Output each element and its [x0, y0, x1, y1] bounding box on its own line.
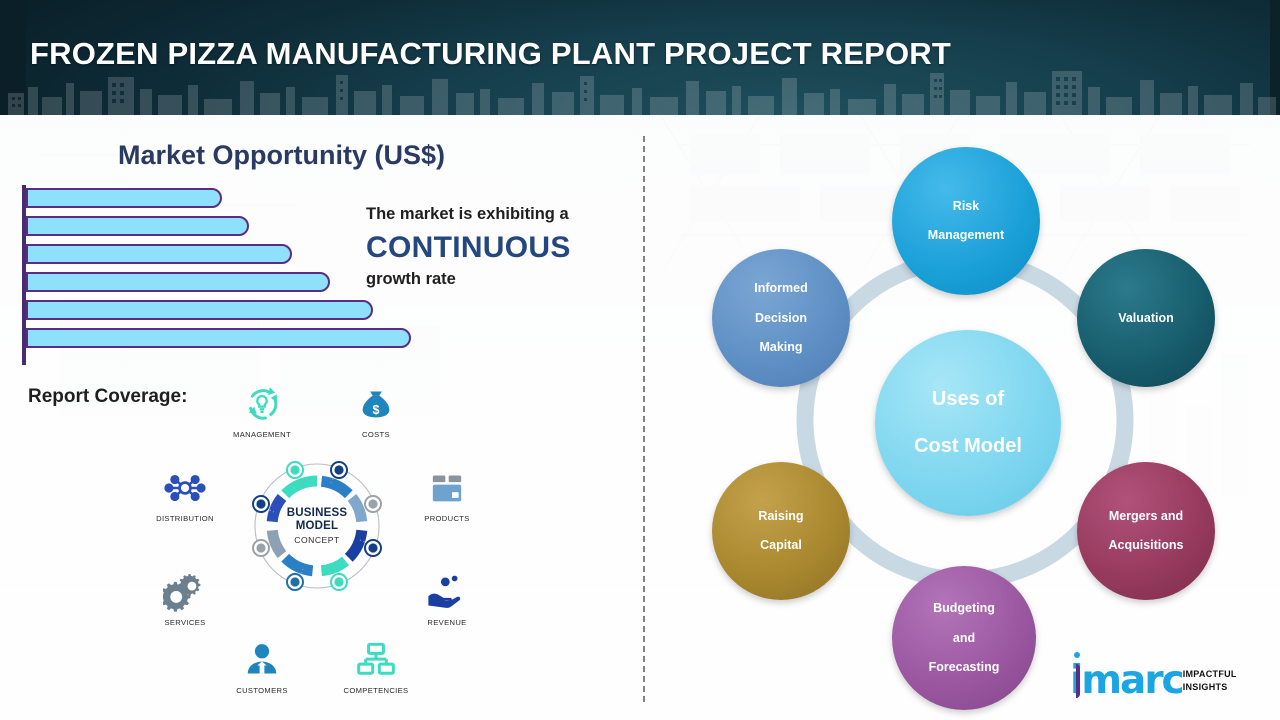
coverage-item-management: MANAGEMENT	[214, 382, 310, 439]
coverage-label-customers: CUSTOMERS	[214, 686, 310, 695]
coverage-item-customers: CUSTOMERS	[214, 638, 310, 695]
coverage-label-services: SERVICES	[137, 618, 233, 627]
informed-line-3: Making	[748, 340, 813, 355]
bar-4	[26, 300, 373, 320]
node-valuation[interactable]: Valuation	[1077, 249, 1215, 387]
coverage-item-distribution: DISTRIBUTION	[137, 466, 233, 523]
bar-0	[26, 188, 222, 208]
coverage-label-revenue: REVENUE	[399, 618, 495, 627]
coverage-item-costs: $ COSTS	[328, 382, 424, 439]
bar-3	[26, 272, 330, 292]
raising-line-2: Capital	[752, 538, 809, 553]
risk-line-2: Management	[922, 228, 1010, 243]
coverage-item-competencies: COMPETENCIES	[328, 638, 424, 695]
market-growth-note: The market is exhibiting a CONTINUOUS gr…	[366, 204, 634, 290]
node-informed-decision-making[interactable]: Informed Decision Making	[712, 249, 850, 387]
money-bag-icon: $	[328, 382, 424, 426]
imarc-word-text: imarc	[1070, 658, 1183, 703]
logo-divider	[1076, 664, 1080, 698]
coverage-label-management: MANAGEMENT	[214, 430, 310, 439]
valuation-label: Valuation	[1112, 311, 1180, 326]
node-risk-management[interactable]: Risk Management	[892, 147, 1040, 295]
slide-root: FROZEN PIZZA MANUFACTURING PLANT PROJECT…	[0, 0, 1280, 720]
bar-1	[26, 216, 249, 236]
note-line-3: growth rate	[366, 269, 634, 290]
budgeting-line-3: Forecasting	[923, 660, 1006, 675]
imarc-dot-icon	[1074, 652, 1080, 658]
risk-line-1: Risk	[922, 199, 1010, 214]
mergers-line-2: Acquisitions	[1102, 538, 1189, 553]
business-model-donut-icon	[243, 452, 391, 600]
network-nodes-icon	[137, 466, 233, 510]
coverage-label-competencies: COMPETENCIES	[328, 686, 424, 695]
coverage-item-products: PRODUCTS	[399, 466, 495, 523]
note-line-1: The market is exhibiting a	[366, 204, 634, 225]
tagline-line-1: IMPACTFUL	[1183, 668, 1237, 680]
imarc-wordmark: imarc	[1070, 661, 1183, 700]
bar-2	[26, 244, 292, 264]
imarc-logo[interactable]: imarc IMPACTFUL INSIGHTS	[1070, 661, 1237, 700]
hand-coins-icon	[399, 570, 495, 614]
informed-line-1: Informed	[748, 281, 813, 296]
recycle-lightbulb-icon	[214, 382, 310, 426]
mergers-line-1: Mergers and	[1102, 509, 1189, 524]
informed-line-2: Decision	[748, 311, 813, 326]
budgeting-line-2: and	[923, 631, 1006, 646]
uses-of-cost-model-diagram: Uses of Cost Model Risk Management Valua…	[660, 125, 1260, 705]
coverage-label-costs: COSTS	[328, 430, 424, 439]
center-line-1: Uses of	[908, 388, 1028, 412]
node-raising-capital[interactable]: Raising Capital	[712, 462, 850, 600]
node-mergers-and-acquisitions[interactable]: Mergers and Acquisitions	[1077, 462, 1215, 600]
imarc-tagline: IMPACTFUL INSIGHTS	[1183, 668, 1237, 692]
bar-5	[26, 328, 411, 348]
package-box-icon	[399, 466, 495, 510]
org-chart-icon	[328, 638, 424, 682]
slide-header: FROZEN PIZZA MANUFACTURING PLANT PROJECT…	[0, 0, 1280, 115]
market-opportunity-title: Market Opportunity (US$)	[118, 140, 445, 171]
svg-text:$: $	[373, 403, 380, 417]
coverage-label-distribution: DISTRIBUTION	[137, 514, 233, 523]
tagline-line-2: INSIGHTS	[1183, 681, 1237, 693]
node-center-uses-of-cost-model[interactable]: Uses of Cost Model	[875, 330, 1061, 516]
business-model-wheel: BUSINESS MODEL CONCEPT	[243, 452, 391, 600]
coverage-item-services: SERVICES	[137, 570, 233, 627]
budgeting-line-1: Budgeting	[923, 601, 1006, 616]
panel-divider	[643, 136, 645, 702]
raising-line-1: Raising	[752, 509, 809, 524]
page-title: FROZEN PIZZA MANUFACTURING PLANT PROJECT…	[30, 36, 951, 72]
user-person-icon	[214, 638, 310, 682]
report-coverage-label: Report Coverage:	[28, 386, 187, 408]
center-line-2: Cost Model	[908, 435, 1028, 459]
coverage-label-products: PRODUCTS	[399, 514, 495, 523]
coverage-item-revenue: REVENUE	[399, 570, 495, 627]
node-budgeting-and-forecasting[interactable]: Budgeting and Forecasting	[892, 566, 1036, 710]
note-line-2: CONTINUOUS	[366, 229, 634, 267]
market-opportunity-bar-chart	[22, 185, 422, 365]
gears-icon	[137, 570, 233, 614]
